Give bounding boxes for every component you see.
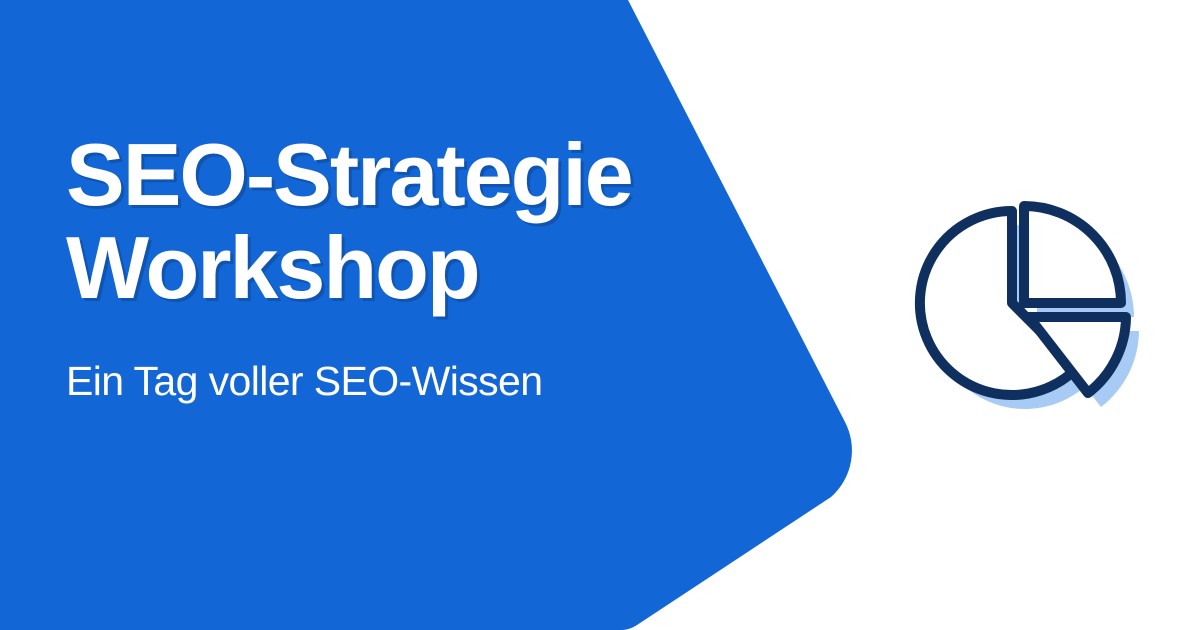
page-subtitle: Ein Tag voller SEO-Wissen [66,315,706,406]
banner-canvas: SEO-Strategie Workshop Ein Tag voller SE… [0,0,1200,630]
banner-text-block: SEO-Strategie Workshop Ein Tag voller SE… [66,128,706,406]
page-title: SEO-Strategie Workshop [66,128,706,315]
pie-segment-quarter [1024,206,1121,303]
pie-chart-outline-group [920,206,1126,395]
pie-chart-icon [898,178,1148,428]
